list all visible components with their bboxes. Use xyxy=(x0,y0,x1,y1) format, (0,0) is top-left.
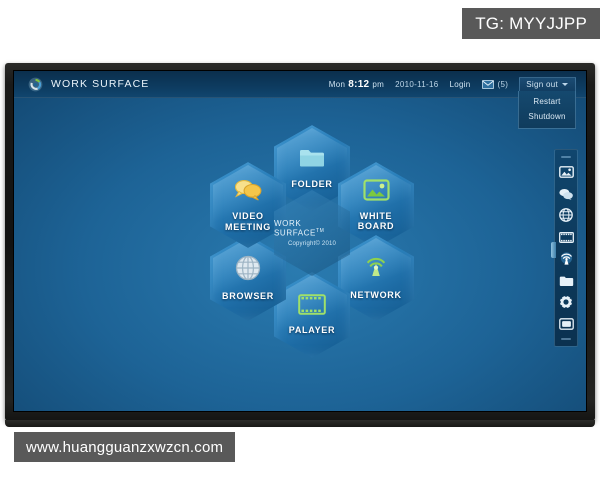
login-link[interactable]: Login xyxy=(449,80,470,89)
chevron-down-icon xyxy=(562,83,568,86)
hex-label-video-meeting: VIDEOMEETING xyxy=(225,211,271,232)
dock-collapse-handle[interactable] xyxy=(551,242,556,258)
dock-button-folder[interactable] xyxy=(557,273,575,289)
signout-menu-wrapper: Sign out Restart Shutdown xyxy=(519,77,576,91)
dock-button-network[interactable] xyxy=(557,251,575,267)
mail-indicator[interactable]: (5) xyxy=(482,80,509,89)
hex-label-folder: FOLDER xyxy=(291,179,332,190)
recycle-logo-icon xyxy=(28,77,43,92)
center-title: WORK SURFACETM xyxy=(274,219,350,238)
top-bar: WORK SURFACE Mon 8:12 pm 2010-11-16 Logi… xyxy=(14,71,586,98)
hex-menu-cluster: FOLDER WHITEBOARD xyxy=(192,113,432,353)
globe-icon xyxy=(235,255,261,286)
desktop-screen: WORK SURFACE Mon 8:12 pm 2010-11-16 Logi… xyxy=(13,70,587,412)
top-watermark-text: TG: MYYJJPP xyxy=(475,14,587,34)
signout-label: Sign out xyxy=(526,80,558,89)
antenna-icon xyxy=(363,256,389,285)
date-label: 2010-11-16 xyxy=(395,80,438,89)
clock-meridiem: pm xyxy=(372,80,384,89)
top-watermark-badge: TG: MYYJJPP xyxy=(462,8,600,39)
signout-dropdown: Restart Shutdown xyxy=(518,91,576,129)
bottom-watermark-text: www.huangguanzxwzcn.com xyxy=(26,439,223,456)
hex-label-network: NETWORK xyxy=(350,290,401,301)
right-dock xyxy=(554,149,578,347)
signout-button[interactable]: Sign out xyxy=(519,77,576,91)
center-copyright: Copyright© 2010 xyxy=(288,241,336,247)
center-trademark: TM xyxy=(316,228,324,234)
top-bar-right: Mon 8:12 pm 2010-11-16 Login (5) xyxy=(329,77,576,91)
screen-icon[interactable] xyxy=(557,316,575,332)
clock: Mon 8:12 pm xyxy=(329,79,384,90)
bottom-watermark-badge: www.huangguanzxwzcn.com xyxy=(14,432,235,462)
filmstrip-icon xyxy=(298,294,326,320)
center-title-text: WORK SURFACE xyxy=(274,219,316,238)
screenshot-root: TG: MYYJJPP WORK SURFACE xyxy=(0,0,600,480)
hex-label-palayer: PALAYER xyxy=(289,325,335,336)
menu-item-shutdown[interactable]: Shutdown xyxy=(519,109,575,124)
clock-time: 8:12 xyxy=(348,79,369,90)
picture-icon xyxy=(363,179,390,206)
brand-area: WORK SURFACE xyxy=(28,77,149,92)
dock-button-browser[interactable] xyxy=(557,207,575,223)
dock-button-player[interactable] xyxy=(557,229,575,245)
dock-bottom-cap xyxy=(561,338,571,340)
brand-label: WORK SURFACE xyxy=(51,78,149,90)
gear-icon[interactable] xyxy=(557,294,575,310)
clock-day: Mon xyxy=(329,80,345,89)
chat-bubbles-icon xyxy=(233,178,263,206)
dock-button-meeting[interactable] xyxy=(557,186,575,202)
menu-item-restart[interactable]: Restart xyxy=(519,94,575,109)
dock-button-whiteboard[interactable] xyxy=(557,164,575,180)
monitor-frame: WORK SURFACE Mon 8:12 pm 2010-11-16 Logi… xyxy=(5,63,595,421)
mail-count: (5) xyxy=(498,80,509,89)
dock-top-cap xyxy=(561,156,571,158)
folder-icon xyxy=(298,147,326,174)
envelope-icon xyxy=(482,80,494,89)
hex-label-white-board: WHITEBOARD xyxy=(358,211,395,232)
hex-label-browser: BROWSER xyxy=(222,291,274,302)
